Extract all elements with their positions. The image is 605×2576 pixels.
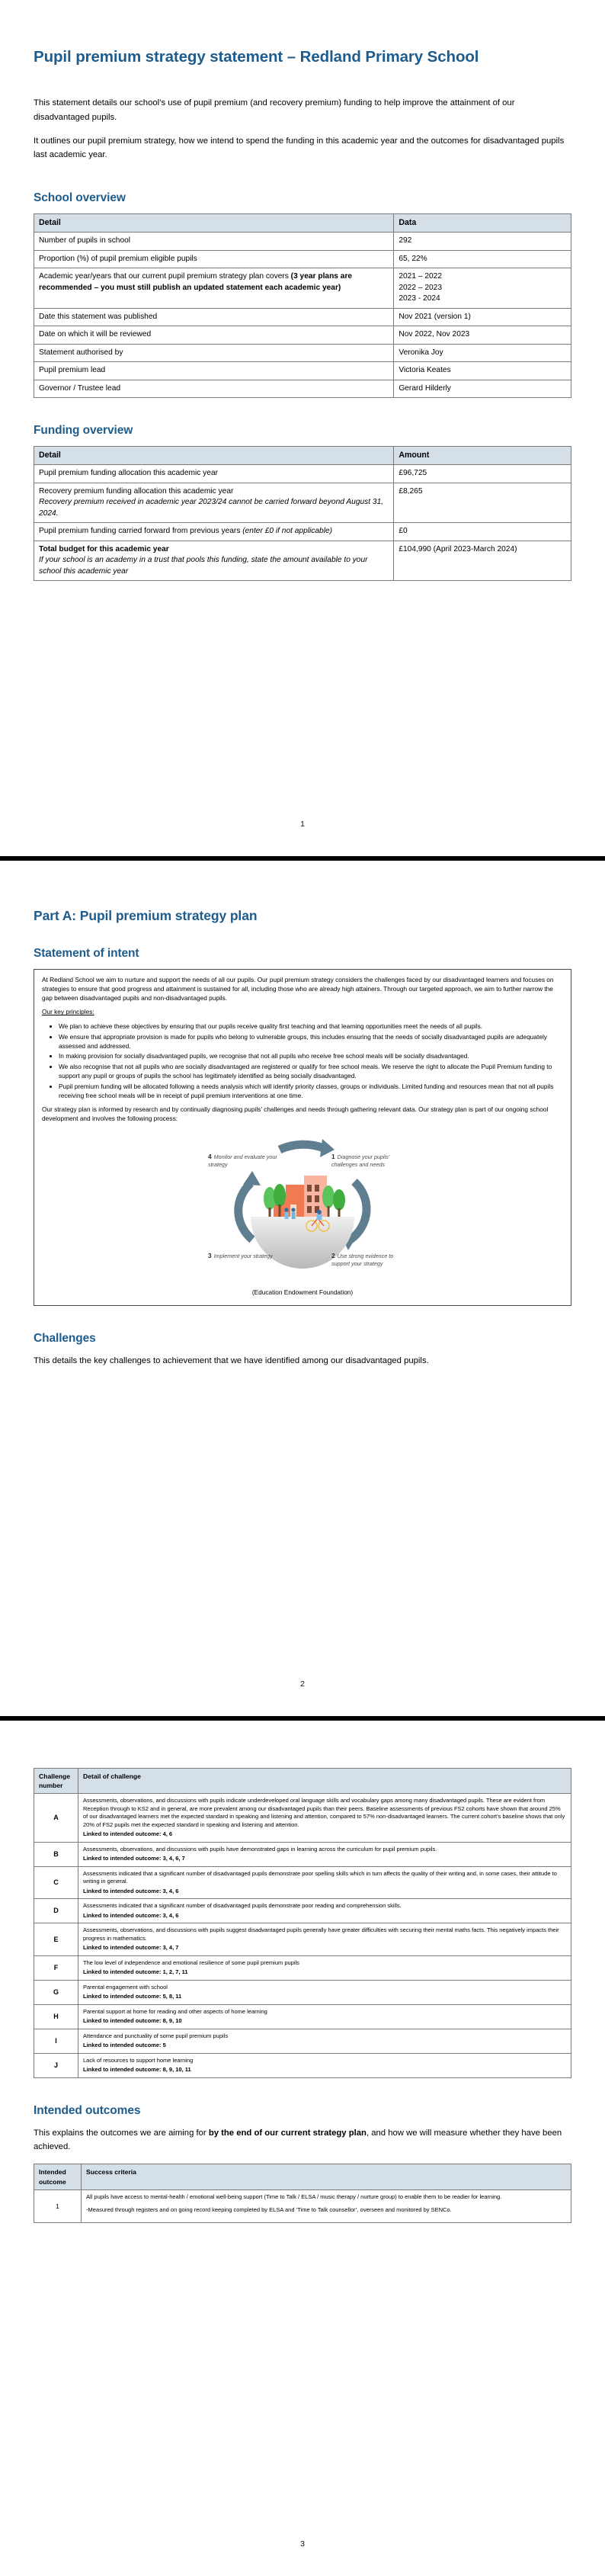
key-principle-item: We also recognise that not all pupils wh… xyxy=(59,1063,563,1081)
column-header-success-criteria: Success criteria xyxy=(82,2164,571,2190)
funding-detail-label: Pupil premium funding carried forward fr… xyxy=(39,527,242,535)
funding-amount-cell: £96,725 xyxy=(394,465,571,483)
intended-outcomes-table: Intended outcome Success criteria 1All p… xyxy=(34,2164,571,2223)
school-overview-detail-cell: Date on which it will be reviewed xyxy=(34,326,394,344)
amount-value: £0 xyxy=(399,526,566,537)
eef-cycle-diagram: 1Diagnose your pupils’ challenges and ne… xyxy=(42,1131,563,1284)
amount-value: £8,265 xyxy=(399,486,566,497)
funding-amount-cell: £0 xyxy=(394,523,571,541)
challenge-detail-cell: Parental engagement with schoolLinked to… xyxy=(78,1980,571,2004)
column-header-detail: Detail xyxy=(34,447,394,465)
funding-detail-label: Pupil premium funding allocation this ac… xyxy=(39,469,218,477)
eef-step-4: 4Monitor and evaluate your strategy xyxy=(208,1153,278,1169)
key-principle-item: We plan to achieve these objectives by e… xyxy=(59,1022,563,1031)
key-principle-item: We ensure that appropriate provision is … xyxy=(59,1033,563,1051)
funding-detail-note: Recovery premium received in academic ye… xyxy=(39,497,389,519)
table-row: HParental support at home for reading an… xyxy=(34,2004,571,2029)
challenge-number-cell: G xyxy=(34,1980,78,2004)
page-1: Pupil premium strategy statement – Redla… xyxy=(0,0,605,856)
eef-caption: (Education Endowment Foundation) xyxy=(42,1288,563,1298)
table-row: AAssessments, observations, and discussi… xyxy=(34,1794,571,1843)
challenge-number-cell: E xyxy=(34,1923,78,1956)
eef-step-1: 1Diagnose your pupils’ challenges and ne… xyxy=(331,1153,402,1169)
challenge-number-cell: H xyxy=(34,2004,78,2029)
table-row: EAssessments, observations, and discussi… xyxy=(34,1923,571,1956)
funding-overview-table: Detail Amount Pupil premium funding allo… xyxy=(34,446,571,581)
intended-outcome-number-cell: 1 xyxy=(34,2190,82,2223)
school-overview-detail-cell: Date this statement was published xyxy=(34,308,394,326)
statement-of-intent-heading: Statement of intent xyxy=(34,947,571,961)
table-header-row: Challenge number Detail of challenge xyxy=(34,1769,571,1794)
table-row: 1All pupils have access to mental-health… xyxy=(34,2190,571,2223)
eef-step-3: 3Implement your strategy xyxy=(208,1252,278,1260)
linked-outcome-label: Linked to intended outcome: 1, 2, 7, 11 xyxy=(83,1968,566,1977)
column-header-detail: Detail xyxy=(34,214,394,233)
funding-amount-cell: £8,265 xyxy=(394,483,571,522)
challenge-detail-cell: Assessments indicated that a significant… xyxy=(78,1866,571,1899)
success-criteria-item: All pupils have access to mental-health … xyxy=(86,2193,566,2202)
school-overview-detail-cell: Governor / Trustee lead xyxy=(34,380,394,397)
table-row: Date this statement was publishedNov 202… xyxy=(34,308,571,326)
linked-outcome-label: Linked to intended outcome: 8, 9, 10 xyxy=(83,2017,566,2026)
school-overview-heading: School overview xyxy=(34,191,571,205)
school-overview-data-cell: Nov 2021 (version 1) xyxy=(394,308,571,326)
page-number: 2 xyxy=(0,1679,605,1689)
intro-paragraph-1: This statement details our school’s use … xyxy=(34,96,571,124)
linked-outcome-label: Linked to intended outcome: 3, 4, 6, 7 xyxy=(83,1855,566,1863)
challenges-intro: This details the key challenges to achie… xyxy=(34,1354,571,1368)
data-value: Nov 2022, Nov 2023 xyxy=(399,329,566,340)
table-row: Total budget for this academic yearIf yo… xyxy=(34,541,571,580)
table-header-row: Detail Amount xyxy=(34,447,571,465)
table-row: JLack of resources to support home learn… xyxy=(34,2053,571,2077)
school-overview-detail-cell: Pupil premium lead xyxy=(34,362,394,380)
table-row: IAttendance and punctuality of some pupi… xyxy=(34,2029,571,2053)
funding-detail-cell: Total budget for this academic yearIf yo… xyxy=(34,541,394,580)
challenge-detail-cell: Assessments indicated that a significant… xyxy=(78,1899,571,1923)
table-row: Pupil premium leadVictoria Keates xyxy=(34,362,571,380)
linked-outcome-label: Linked to intended outcome: 3, 4, 7 xyxy=(83,1944,566,1952)
table-header-row: Detail Data xyxy=(34,214,571,233)
intent-paragraph-1: At Redland School we aim to nurture and … xyxy=(42,976,563,1002)
school-overview-data-cell: Nov 2022, Nov 2023 xyxy=(394,326,571,344)
funding-detail-note: If your school is an academy in a trust … xyxy=(39,555,389,577)
key-principles-list: We plan to achieve these objectives by e… xyxy=(42,1022,563,1100)
success-criteria-item: -Measured through registers and on going… xyxy=(86,2206,566,2215)
challenges-heading: Challenges xyxy=(34,1332,571,1346)
page-title: Pupil premium strategy statement – Redla… xyxy=(34,47,571,67)
data-value: 292 xyxy=(399,236,566,246)
funding-overview-heading: Funding overview xyxy=(34,424,571,438)
challenge-detail-cell: Lack of resources to support home learni… xyxy=(78,2053,571,2077)
table-row: Pupil premium funding carried forward fr… xyxy=(34,523,571,541)
table-row: DAssessments indicated that a significan… xyxy=(34,1899,571,1923)
school-overview-data-cell: 292 xyxy=(394,233,571,250)
linked-outcome-label: Linked to intended outcome: 4, 6 xyxy=(83,1830,566,1839)
intended-outcomes-heading: Intended outcomes xyxy=(34,2104,571,2118)
challenge-number-cell: A xyxy=(34,1794,78,1843)
funding-detail-note: (enter £0 if not applicable) xyxy=(242,527,332,535)
table-row: Recovery premium funding allocation this… xyxy=(34,483,571,522)
data-value: 2022 – 2023 xyxy=(399,283,566,294)
challenge-detail-cell: Assessments, observations, and discussio… xyxy=(78,1794,571,1843)
page-2: Part A: Pupil premium strategy plan Stat… xyxy=(0,861,605,1716)
intended-outcomes-intro: This explains the outcomes we are aiming… xyxy=(34,2126,571,2154)
table-row: Governor / Trustee leadGerard Hilderly xyxy=(34,380,571,397)
funding-detail-cell: Pupil premium funding allocation this ac… xyxy=(34,465,394,483)
page-3: Challenge number Detail of challenge AAs… xyxy=(0,1721,605,2576)
school-overview-data-cell: 2021 – 20222022 – 20232023 - 2024 xyxy=(394,268,571,308)
page-number: 1 xyxy=(0,820,605,829)
school-overview-data-cell: Victoria Keates xyxy=(394,362,571,380)
data-value: 2021 – 2022 xyxy=(399,271,566,282)
data-value: Gerard Hilderly xyxy=(399,383,566,394)
table-row: Academic year/years that our current pup… xyxy=(34,268,571,308)
challenge-detail-cell: Attendance and punctuality of some pupil… xyxy=(78,2029,571,2053)
table-row: Statement authorised byVeronika Joy xyxy=(34,344,571,361)
data-value: Victoria Keates xyxy=(399,365,566,376)
challenge-detail-cell: Assessments, observations, and discussio… xyxy=(78,1842,571,1866)
data-value: 2023 - 2024 xyxy=(399,294,566,304)
page-number: 3 xyxy=(0,2539,605,2549)
key-principles-label: Our key principles: xyxy=(42,1008,94,1015)
column-header-detail-of-challenge: Detail of challenge xyxy=(78,1769,571,1794)
part-a-heading: Part A: Pupil premium strategy plan xyxy=(34,908,571,924)
school-overview-detail-cell: Proportion (%) of pupil premium eligible… xyxy=(34,250,394,268)
school-overview-data-cell: 65, 22% xyxy=(394,250,571,268)
column-header-challenge-number: Challenge number xyxy=(34,1769,78,1794)
challenge-number-cell: I xyxy=(34,2029,78,2053)
success-criteria-cell: All pupils have access to mental-health … xyxy=(82,2190,571,2223)
linked-outcome-label: Linked to intended outcome: 3, 4, 6 xyxy=(83,1912,566,1920)
funding-detail-label: Total budget for this academic year xyxy=(39,545,169,553)
funding-detail-cell: Recovery premium funding allocation this… xyxy=(34,483,394,522)
detail-emphasis: (3 year plans are recommended – you must… xyxy=(39,272,352,291)
challenge-detail-cell: Assessments, observations, and discussio… xyxy=(78,1923,571,1956)
column-header-data: Data xyxy=(394,214,571,233)
table-row: BAssessments, observations, and discussi… xyxy=(34,1842,571,1866)
data-value: Veronika Joy xyxy=(399,348,566,358)
statement-of-intent-box: At Redland School we aim to nurture and … xyxy=(34,969,571,1306)
eef-step-2: 2Use strong evidence to support your str… xyxy=(331,1252,402,1268)
column-header-intended-outcome: Intended outcome xyxy=(34,2164,82,2190)
table-row: CAssessments indicated that a significan… xyxy=(34,1866,571,1899)
table-row: GParental engagement with schoolLinked t… xyxy=(34,1980,571,2004)
funding-amount-cell: £104,990 (April 2023-March 2024) xyxy=(394,541,571,580)
challenge-detail-cell: The low level of independence and emotio… xyxy=(78,1955,571,1980)
column-header-amount: Amount xyxy=(394,447,571,465)
school-overview-data-cell: Veronika Joy xyxy=(394,344,571,361)
table-row: FThe low level of independence and emoti… xyxy=(34,1955,571,1980)
linked-outcome-label: Linked to intended outcome: 3, 4, 6 xyxy=(83,1888,566,1896)
data-value: 65, 22% xyxy=(399,254,566,265)
table-row: Date on which it will be reviewedNov 202… xyxy=(34,326,571,344)
school-overview-detail-cell: Number of pupils in school xyxy=(34,233,394,250)
school-overview-data-cell: Gerard Hilderly xyxy=(394,380,571,397)
challenge-number-cell: J xyxy=(34,2053,78,2077)
table-row: Pupil premium funding allocation this ac… xyxy=(34,465,571,483)
funding-detail-label: Recovery premium funding allocation this… xyxy=(39,487,233,496)
linked-outcome-label: Linked to intended outcome: 8, 9, 10, 11 xyxy=(83,2066,566,2074)
intro-paragraph-2: It outlines our pupil premium strategy, … xyxy=(34,134,571,162)
challenge-detail-cell: Parental support at home for reading and… xyxy=(78,2004,571,2029)
table-row: Proportion (%) of pupil premium eligible… xyxy=(34,250,571,268)
funding-detail-cell: Pupil premium funding carried forward fr… xyxy=(34,523,394,541)
school-overview-detail-cell: Statement authorised by xyxy=(34,344,394,361)
school-overview-table: Detail Data Number of pupils in school29… xyxy=(34,213,571,398)
linked-outcome-label: Linked to intended outcome: 5, 8, 11 xyxy=(83,1993,566,2001)
data-value: Nov 2021 (version 1) xyxy=(399,312,566,322)
table-header-row: Intended outcome Success criteria xyxy=(34,2164,571,2190)
amount-value: £104,990 (April 2023-March 2024) xyxy=(399,544,566,555)
table-row: Number of pupils in school292 xyxy=(34,233,571,250)
key-principle-item: Pupil premium funding will be allocated … xyxy=(59,1083,563,1101)
key-principle-item: In making provision for socially disadva… xyxy=(59,1052,563,1061)
challenges-table: Challenge number Detail of challenge AAs… xyxy=(34,1768,571,2078)
linked-outcome-label: Linked to intended outcome: 5 xyxy=(83,2042,566,2050)
challenge-number-cell: C xyxy=(34,1866,78,1899)
challenge-number-cell: D xyxy=(34,1899,78,1923)
amount-value: £96,725 xyxy=(399,468,566,479)
intent-paragraph-2: Our strategy plan is informed by researc… xyxy=(42,1105,563,1124)
challenge-number-cell: F xyxy=(34,1955,78,1980)
challenge-number-cell: B xyxy=(34,1842,78,1866)
school-overview-detail-cell: Academic year/years that our current pup… xyxy=(34,268,394,308)
